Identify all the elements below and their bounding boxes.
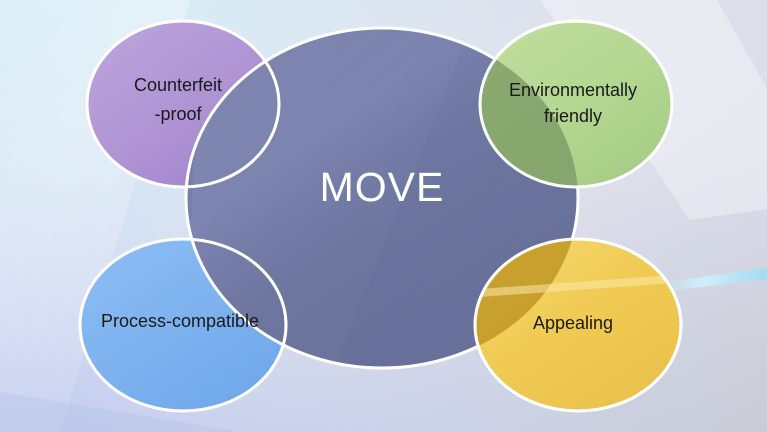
slide-canvas: Counterfeit -proof Environmentally frien… xyxy=(0,0,767,432)
label-environmentally-friendly-line1: Environmentally xyxy=(509,80,637,100)
label-move-core: MOVE xyxy=(320,164,445,210)
label-appealing: Appealing xyxy=(533,313,613,333)
venn-diagram: Counterfeit -proof Environmentally frien… xyxy=(0,0,767,432)
label-process-compatible: Process-compatible xyxy=(101,311,259,331)
label-counterfeit-proof-line2: -proof xyxy=(154,104,202,124)
label-environmentally-friendly-line2: friendly xyxy=(544,106,602,126)
label-counterfeit-proof-line1: Counterfeit xyxy=(134,75,222,95)
